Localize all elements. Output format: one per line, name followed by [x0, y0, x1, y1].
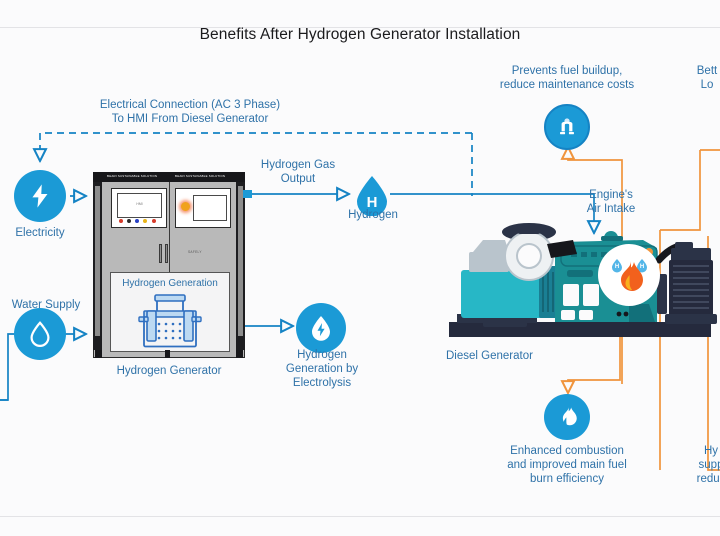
flame-with-h2-droplets-icon: H H — [601, 247, 657, 303]
node-hydrogen-label: Hydrogen — [332, 208, 414, 222]
flame-drop-icon — [554, 404, 580, 430]
water-drop-icon — [26, 320, 54, 348]
node-electricity-icon[interactable] — [14, 170, 66, 222]
door-handle-left[interactable] — [159, 244, 162, 263]
node-electrolysis-icon[interactable] — [296, 303, 346, 353]
fuel-injector-icon — [554, 114, 580, 140]
node-better-clipped-label: Bett Lo — [672, 64, 720, 92]
door-handle-right[interactable] — [165, 244, 168, 263]
node-hydrogen-clipped-label: Hy supp reduc — [676, 444, 720, 486]
diesel-generator: H H — [443, 196, 720, 348]
diesel-generator-illustration — [443, 196, 720, 348]
node-combustion-label: Enhanced combustion and improved main fu… — [478, 444, 656, 486]
cabinet-right-rail — [236, 182, 245, 350]
cabinet-side-mark: SAFELY — [188, 250, 202, 254]
hmi-screen-left: HMI — [117, 193, 162, 218]
diagram-canvas: Benefits After Hydrogen Generator Instal… — [0, 0, 720, 536]
cabinet-brand-right: BHARI SUSTAINABLE SOLUTION — [175, 174, 225, 178]
node-electricity-label: Electricity — [0, 226, 80, 240]
gas-outlet-port — [243, 190, 252, 198]
lightning-bolt-icon — [26, 182, 54, 210]
node-electrolysis-label: Hydrogen Generation by Electrolysis — [276, 348, 368, 390]
cabinet-feet — [93, 350, 245, 358]
node-fuel-buildup-label: Prevents fuel buildup, reduce maintenanc… — [478, 64, 656, 92]
drop-with-bolt-icon — [306, 313, 336, 343]
node-water-supply-icon[interactable] — [14, 308, 66, 360]
node-water-supply-label: Water Supply — [0, 298, 92, 312]
svg-text:H: H — [615, 264, 619, 270]
svg-text:H: H — [640, 264, 644, 270]
indicator-light — [181, 202, 190, 211]
node-fuel-buildup-icon[interactable] — [544, 104, 590, 150]
cabinet-window-title: Hydrogen Generation — [111, 278, 229, 289]
cabinet-left-rail — [93, 182, 102, 350]
electrolysis-cell-icon — [111, 293, 229, 351]
cabinet-window: Hydrogen Generation — [110, 272, 230, 352]
caption-hydrogen-generator: Hydrogen Generator — [94, 364, 244, 378]
hmi-screen-text: HMI — [118, 202, 161, 206]
node-combustion-icon[interactable] — [544, 394, 590, 440]
hmi-panel-left[interactable]: HMI — [111, 188, 167, 228]
hmi-panel-right[interactable] — [175, 188, 231, 228]
cabinet-brand-left: BHARI SUSTAINABLE SOLUTION — [107, 174, 157, 178]
label-hydrogen-gas-output: Hydrogen Gas Output — [228, 158, 368, 186]
hydrogen-combustion-badge: H H — [598, 244, 660, 306]
hmi-screen-right — [193, 195, 227, 221]
label-electrical-connection: Electrical Connection (AC 3 Phase) To HM… — [40, 98, 340, 126]
caption-diesel-generator: Diesel Generator — [446, 349, 606, 363]
hydrogen-generator-cabinet: BHARI SUSTAINABLE SOLUTION BHARI SUSTAIN… — [93, 172, 245, 358]
